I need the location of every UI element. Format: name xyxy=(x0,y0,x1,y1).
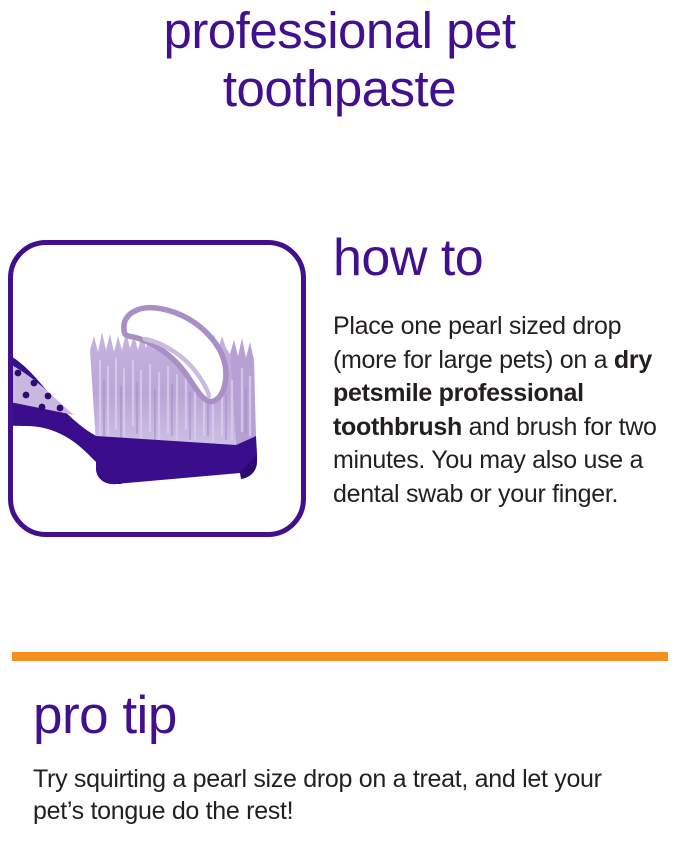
how-to-section: how to Place one pearl sized drop (more … xyxy=(0,228,679,558)
orange-divider xyxy=(12,652,668,661)
pro-tip-body: Try squirting a pearl size drop on a tre… xyxy=(33,763,653,827)
how-to-body-part-1: Place one pearl sized drop (more for lar… xyxy=(333,312,621,374)
how-to-text-column: how to Place one pearl sized drop (more … xyxy=(333,228,673,511)
toothbrush-icon xyxy=(8,240,306,537)
toothbrush-illustration-frame xyxy=(8,240,306,537)
how-to-body: Place one pearl sized drop (more for lar… xyxy=(333,310,673,511)
pro-tip-section: pro tip Try squirting a pearl size drop … xyxy=(33,685,653,827)
page-title-line-1: professional pet xyxy=(0,2,679,60)
poster-page: professional pet toothpaste xyxy=(0,0,679,848)
pro-tip-heading: pro tip xyxy=(33,685,653,747)
page-title: professional pet toothpaste xyxy=(0,2,679,118)
how-to-heading: how to xyxy=(333,228,673,288)
page-title-line-2: toothpaste xyxy=(0,60,679,118)
